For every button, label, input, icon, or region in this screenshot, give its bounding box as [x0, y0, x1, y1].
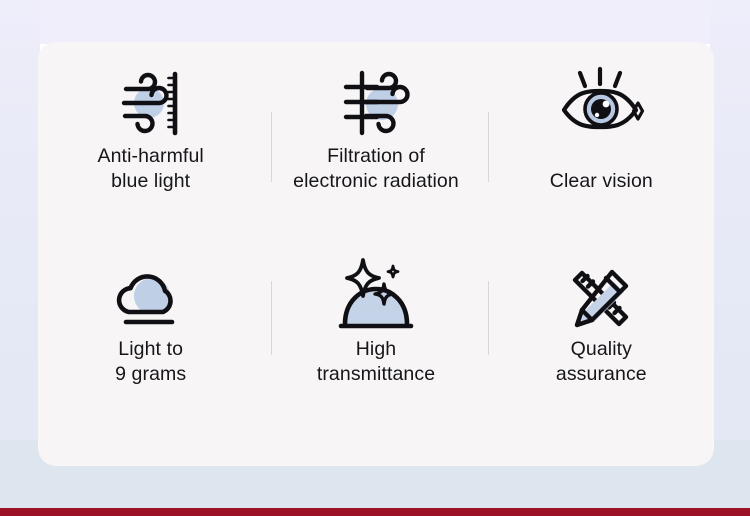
page-root: Anti-harmful blue light — [0, 0, 750, 516]
cloud-light-icon — [110, 257, 192, 337]
feature-card: Anti-harmful blue light — [38, 42, 714, 466]
feature-label: High transmittance — [317, 337, 435, 387]
feature-label: Anti-harmful blue light — [98, 144, 204, 194]
feature-label: Filtration of electronic radiation — [293, 144, 459, 194]
pencil-ruler-icon — [562, 257, 640, 337]
column-divider — [271, 281, 272, 355]
background-top-band — [0, 0, 750, 44]
feature-item-clear-vision[interactable]: Clear vision — [489, 58, 714, 257]
feature-item-quality-assurance[interactable]: Quality assurance — [489, 257, 714, 456]
feature-item-high-transmittance[interactable]: High transmittance — [263, 257, 488, 456]
eye-sparkle-icon — [558, 58, 644, 144]
feature-item-anti-blue-light[interactable]: Anti-harmful blue light — [38, 58, 263, 257]
dome-sparkle-icon — [333, 257, 419, 337]
column-divider — [488, 112, 489, 182]
feature-item-radiation-filter[interactable]: Filtration of electronic radiation — [263, 58, 488, 257]
column-divider — [488, 281, 489, 355]
bottom-accent-stripe — [0, 508, 750, 516]
feature-label: Quality assurance — [556, 337, 647, 387]
feature-row-bottom: Light to 9 grams High transmittance — [38, 257, 714, 466]
radiation-filter-icon — [337, 58, 415, 144]
feature-item-light-weight[interactable]: Light to 9 grams — [38, 257, 263, 456]
background-left-gradient — [0, 0, 40, 470]
column-divider — [271, 112, 272, 182]
feature-label: Clear vision — [550, 144, 653, 194]
feature-label: Light to 9 grams — [115, 337, 186, 387]
wind-ruler-icon — [112, 58, 190, 144]
feature-row-top: Anti-harmful blue light — [38, 42, 714, 257]
background-right-gradient — [710, 0, 750, 470]
